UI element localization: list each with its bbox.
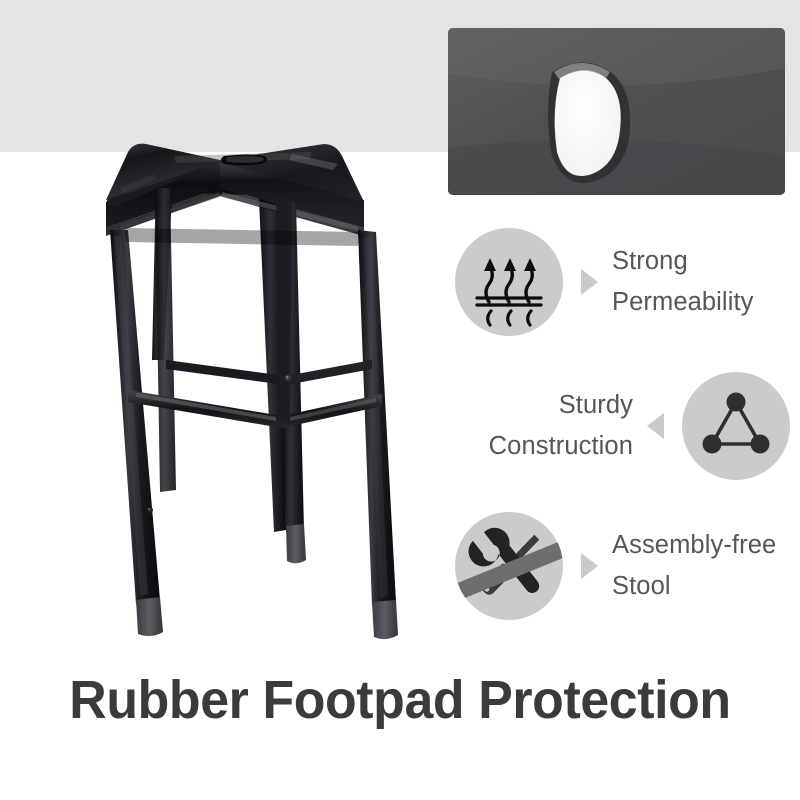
page-title: Rubber Footpad Protection [16, 669, 784, 731]
marker-triangle-left-icon [647, 413, 664, 439]
product-photo-bar-stool [24, 60, 434, 660]
feature-row-strong-permeability: Strong Permeability [455, 228, 790, 336]
feature-row-assembly-free-stool: Assembly-free Stool [455, 512, 790, 620]
marker-triangle-right-icon [581, 269, 598, 295]
feature-label-strong-permeability: Strong Permeability [612, 241, 790, 323]
permeability-icon [455, 228, 563, 336]
feature-row-sturdy-construction: Sturdy Construction [455, 372, 790, 480]
feature-label-assembly-free-stool: Assembly-free Stool [612, 525, 790, 607]
feature-label-sturdy-construction: Sturdy Construction [455, 385, 633, 467]
no-tools-icon [455, 512, 563, 620]
inset-photo-seat-handle [448, 28, 785, 195]
infographic-canvas: Strong Permeability Sturdy Construction [0, 0, 800, 800]
triangle-nodes-icon [682, 372, 790, 480]
marker-triangle-right-icon-2 [581, 553, 598, 579]
